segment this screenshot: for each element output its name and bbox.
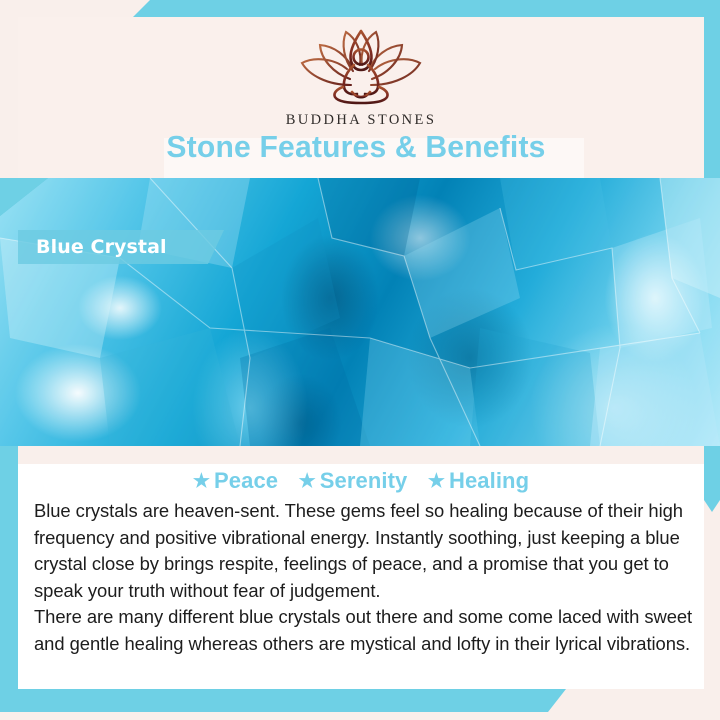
benefit-item-healing: ★Healing <box>428 464 529 499</box>
body-copy: Blue crystals are heaven-sent. These gem… <box>34 498 696 657</box>
star-icon: ★ <box>428 471 445 492</box>
star-icon: ★ <box>193 471 210 492</box>
content-top-tint <box>18 446 704 464</box>
infographic-page: BUDDHA STONES Stone Features & Benefits <box>0 0 720 720</box>
content-card: ★Peace ★Serenity ★Healing Blue crystals … <box>18 446 704 689</box>
benefit-label: Healing <box>449 468 529 493</box>
crystal-facets <box>0 178 720 446</box>
page-title: Stone Features & Benefits <box>152 126 559 168</box>
benefits-row: ★Peace ★Serenity ★Healing <box>18 464 704 499</box>
body-paragraph-2: There are many different blue crystals o… <box>34 604 696 657</box>
top-accent-band <box>0 0 720 17</box>
benefit-label: Serenity <box>320 468 408 493</box>
blue-crystal-photo <box>0 178 720 446</box>
body-paragraph-1: Blue crystals are heaven-sent. These gem… <box>34 498 696 604</box>
lotus-meditation-figure-icon <box>291 23 431 111</box>
crystal-name-label: Blue Crystal <box>36 236 167 258</box>
benefit-item-serenity: ★Serenity <box>299 464 408 499</box>
benefit-item-peace: ★Peace <box>193 464 278 499</box>
bottom-accent-band <box>0 689 600 712</box>
hero-image <box>0 178 720 446</box>
benefit-label: Peace <box>214 468 278 493</box>
star-icon: ★ <box>299 471 316 492</box>
brand-lockup: BUDDHA STONES <box>18 23 704 129</box>
